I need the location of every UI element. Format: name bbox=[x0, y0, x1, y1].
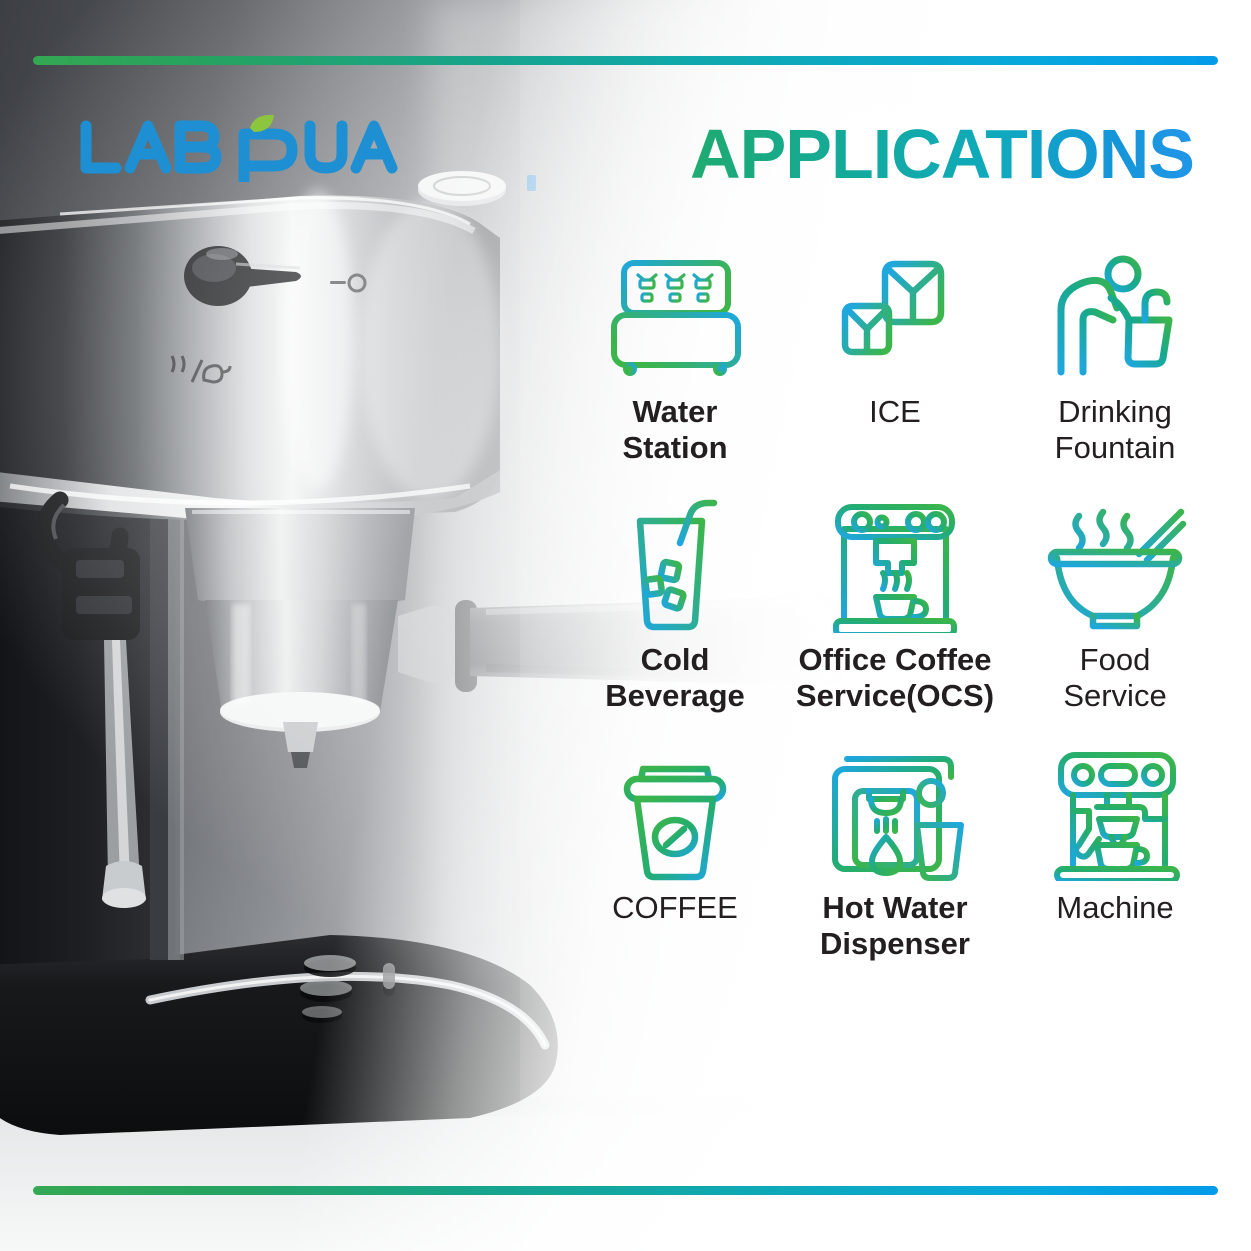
application-item-drinking-fountain[interactable]: DrinkingFountain bbox=[1005, 240, 1225, 466]
application-item-hot-water-dispenser[interactable]: Hot WaterDispenser bbox=[785, 736, 1005, 962]
drinking-fountain-icon bbox=[1045, 240, 1185, 390]
application-item-cold-beverage[interactable]: ColdBeverage bbox=[565, 488, 785, 714]
application-item-water-station[interactable]: WaterStation bbox=[565, 240, 785, 466]
coffee-machine-icon bbox=[828, 488, 963, 638]
application-item-machine[interactable]: Machine bbox=[1005, 736, 1225, 962]
ice-cubes-icon bbox=[825, 240, 965, 390]
application-item-food-service[interactable]: FoodService bbox=[1005, 488, 1225, 714]
application-label: ICE bbox=[869, 394, 921, 430]
application-label: COFFEE bbox=[612, 890, 738, 926]
page-title: APPLICATIONS bbox=[618, 117, 1194, 191]
espresso-machine-icon bbox=[1045, 736, 1185, 886]
application-label: ColdBeverage bbox=[605, 642, 745, 714]
application-label: Hot WaterDispenser bbox=[820, 890, 970, 962]
application-item-coffee[interactable]: COFFEE bbox=[565, 736, 785, 962]
application-label: FoodService bbox=[1063, 642, 1166, 714]
brand-logo[interactable] bbox=[78, 112, 398, 174]
application-label: Office CoffeeService(OCS) bbox=[796, 642, 994, 714]
applications-grid: WaterStation I bbox=[565, 240, 1225, 962]
application-label: Machine bbox=[1056, 890, 1173, 926]
cold-beverage-icon bbox=[610, 488, 740, 638]
noodle-bowl-icon bbox=[1043, 488, 1188, 638]
application-item-office-coffee[interactable]: Office CoffeeService(OCS) bbox=[785, 488, 1005, 714]
togo-coffee-cup-icon bbox=[613, 736, 738, 886]
hot-water-dispenser-icon bbox=[825, 736, 965, 886]
applications-infographic: APPLICATIONS bbox=[0, 0, 1251, 1251]
bottom-gradient-rule bbox=[33, 1186, 1218, 1195]
application-label: WaterStation bbox=[622, 394, 727, 466]
top-gradient-rule bbox=[33, 56, 1218, 65]
water-station-icon bbox=[600, 240, 750, 390]
application-label: DrinkingFountain bbox=[1055, 394, 1176, 466]
application-item-ice[interactable]: ICE bbox=[785, 240, 1005, 466]
